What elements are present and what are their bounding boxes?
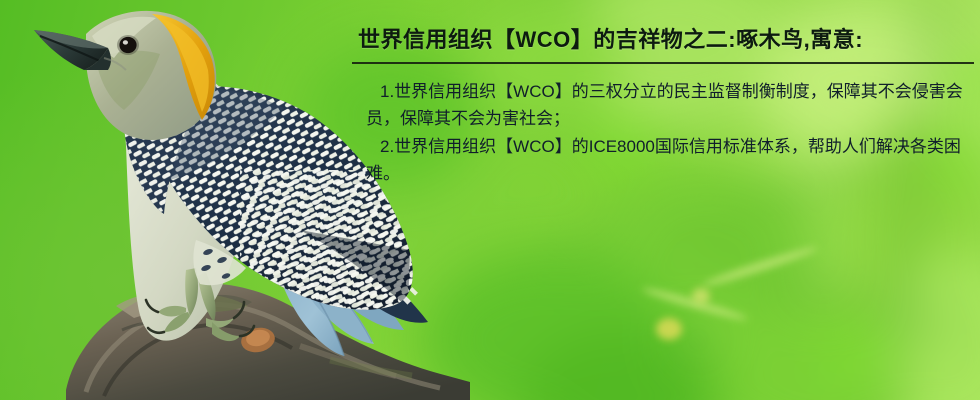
banner-title: 世界信用组织【WCO】的吉祥物之二:啄木鸟,寓意: <box>352 24 972 56</box>
title-underline <box>352 62 974 64</box>
banner-text-block: 世界信用组织【WCO】的吉祥物之二:啄木鸟,寓意: 1.世界信用组织【WCO】的… <box>352 24 972 187</box>
list-item: 2.世界信用组织【WCO】的ICE8000国际信用标准体系，帮助人们解决各类困难… <box>366 133 972 187</box>
list-item: 1.世界信用组织【WCO】的三权分立的民主监督制衡制度，保障其不会侵害会员，保障… <box>366 78 972 132</box>
bird-head <box>86 11 216 140</box>
banner-body: 1.世界信用组织【WCO】的三权分立的民主监督制衡制度，保障其不会侵害会员，保障… <box>352 78 972 187</box>
wco-mascot-banner: 世界信用组织【WCO】的吉祥物之二:啄木鸟,寓意: 1.世界信用组织【WCO】的… <box>0 0 980 400</box>
tree-branch <box>66 280 470 400</box>
bird-eye <box>117 35 139 55</box>
